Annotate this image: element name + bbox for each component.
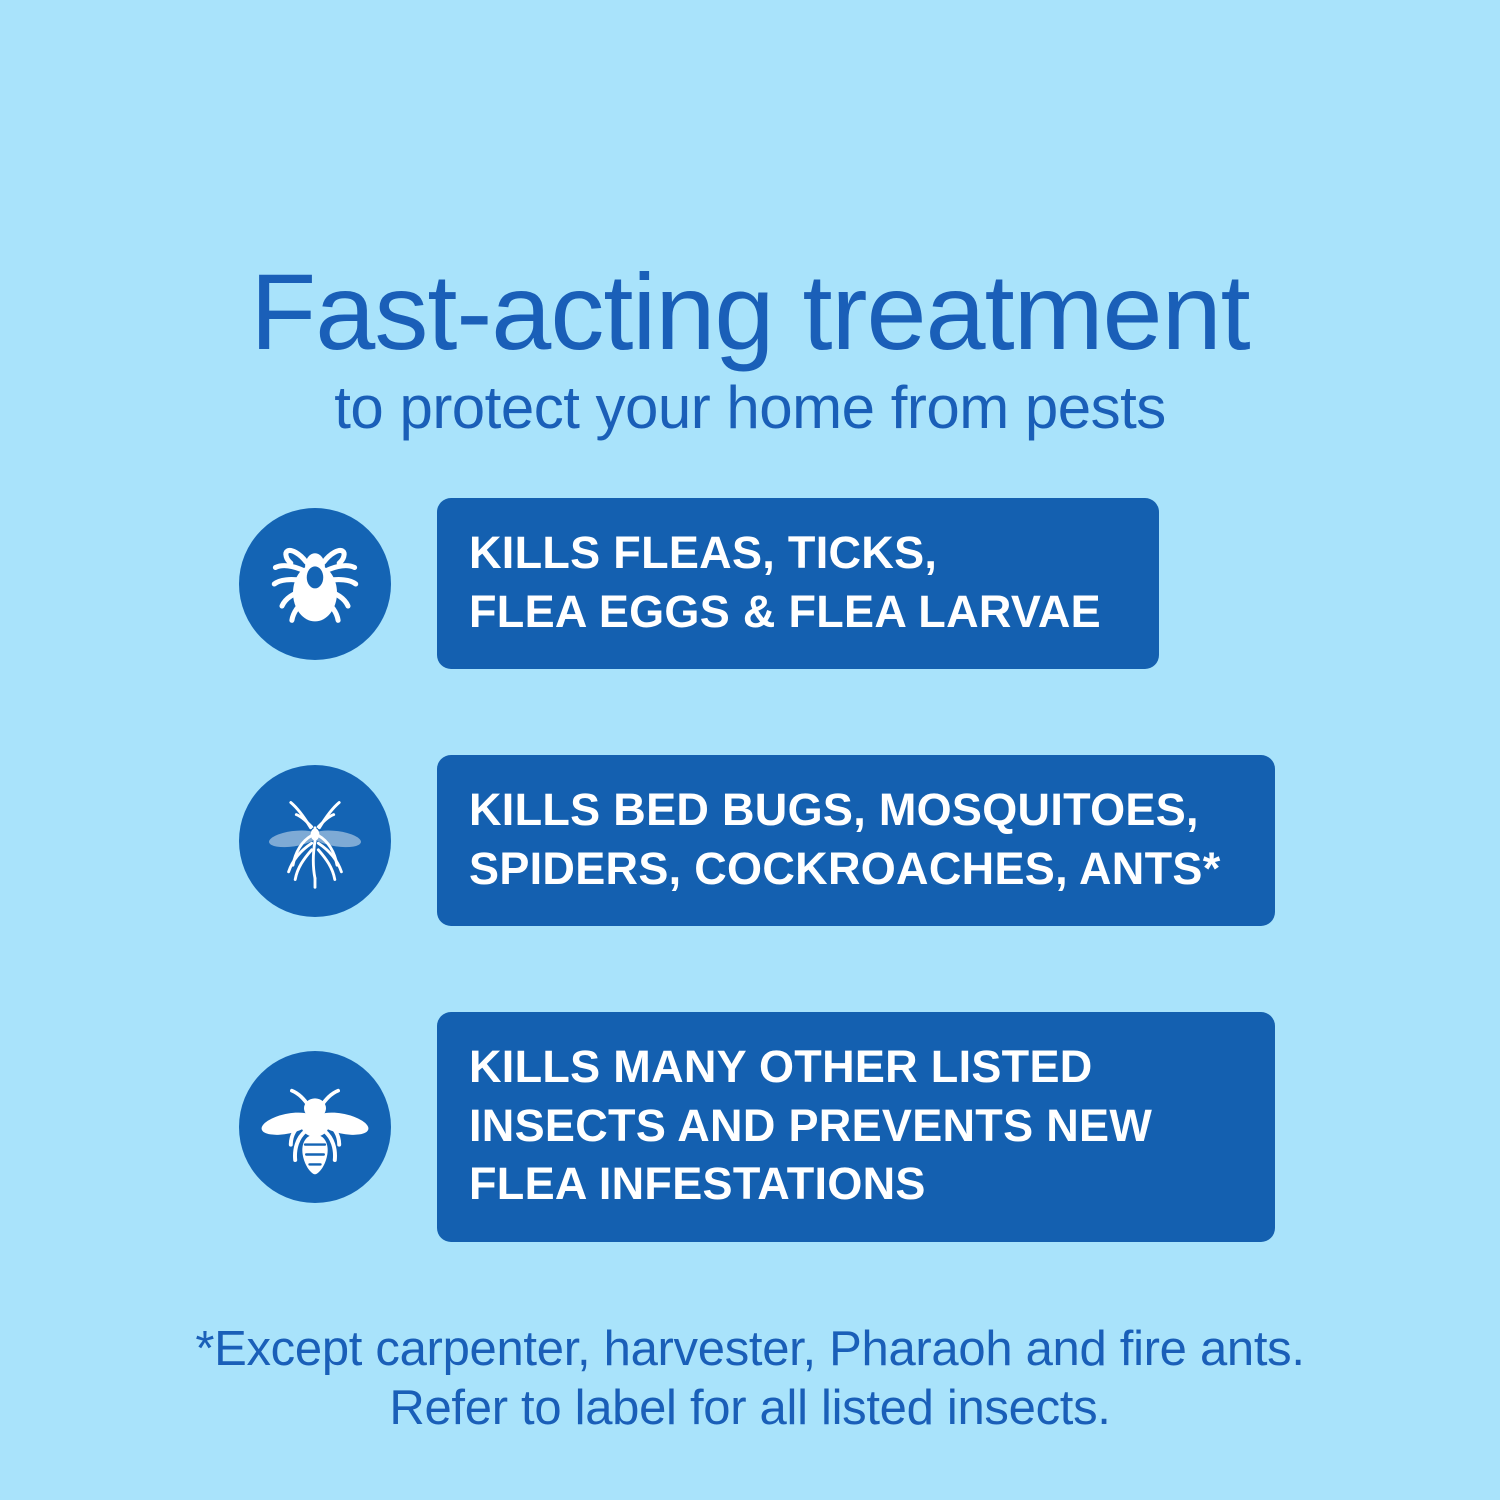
banner-line: SPIDERS, COCKROACHES, ANTS* [469,840,1243,899]
bee-icon [260,1072,370,1182]
banner-line: FLEA EGGS & FLEA LARVAE [469,583,1127,642]
feature-row: KILLS FLEAS, TICKS, FLEA EGGS & FLEA LAR… [0,498,1500,669]
page-subtitle: to protect your home from pests [0,378,1500,438]
page-title: Fast-acting treatment [0,258,1500,366]
footnote: *Except carpenter, harvester, Pharaoh an… [0,1320,1500,1438]
feature-row: KILLS MANY OTHER LISTED INSECTS AND PREV… [0,1012,1500,1242]
footnote-line-1: *Except carpenter, harvester, Pharaoh an… [0,1320,1500,1379]
header-block: Fast-acting treatment to protect your ho… [0,258,1500,438]
feature-banner: KILLS MANY OTHER LISTED INSECTS AND PREV… [437,1012,1275,1242]
mosquito-icon-badge [239,765,391,917]
footnote-line-2: Refer to label for all listed insects. [0,1379,1500,1438]
feature-banner: KILLS BED BUGS, MOSQUITOES, SPIDERS, COC… [437,755,1275,926]
tick-icon [260,529,370,639]
promo-page: Fast-acting treatment to protect your ho… [0,0,1500,1500]
bee-icon-badge [239,1051,391,1203]
banner-line: KILLS FLEAS, TICKS, [469,524,1127,583]
mosquito-icon [260,786,370,896]
feature-list: KILLS FLEAS, TICKS, FLEA EGGS & FLEA LAR… [0,498,1500,1242]
feature-row: KILLS BED BUGS, MOSQUITOES, SPIDERS, COC… [0,755,1500,926]
banner-line: KILLS MANY OTHER LISTED [469,1038,1243,1097]
banner-line: FLEA INFESTATIONS [469,1155,1243,1214]
banner-line: INSECTS AND PREVENTS NEW [469,1097,1243,1156]
banner-line: KILLS BED BUGS, MOSQUITOES, [469,781,1243,840]
tick-icon-badge [239,508,391,660]
feature-banner: KILLS FLEAS, TICKS, FLEA EGGS & FLEA LAR… [437,498,1159,669]
